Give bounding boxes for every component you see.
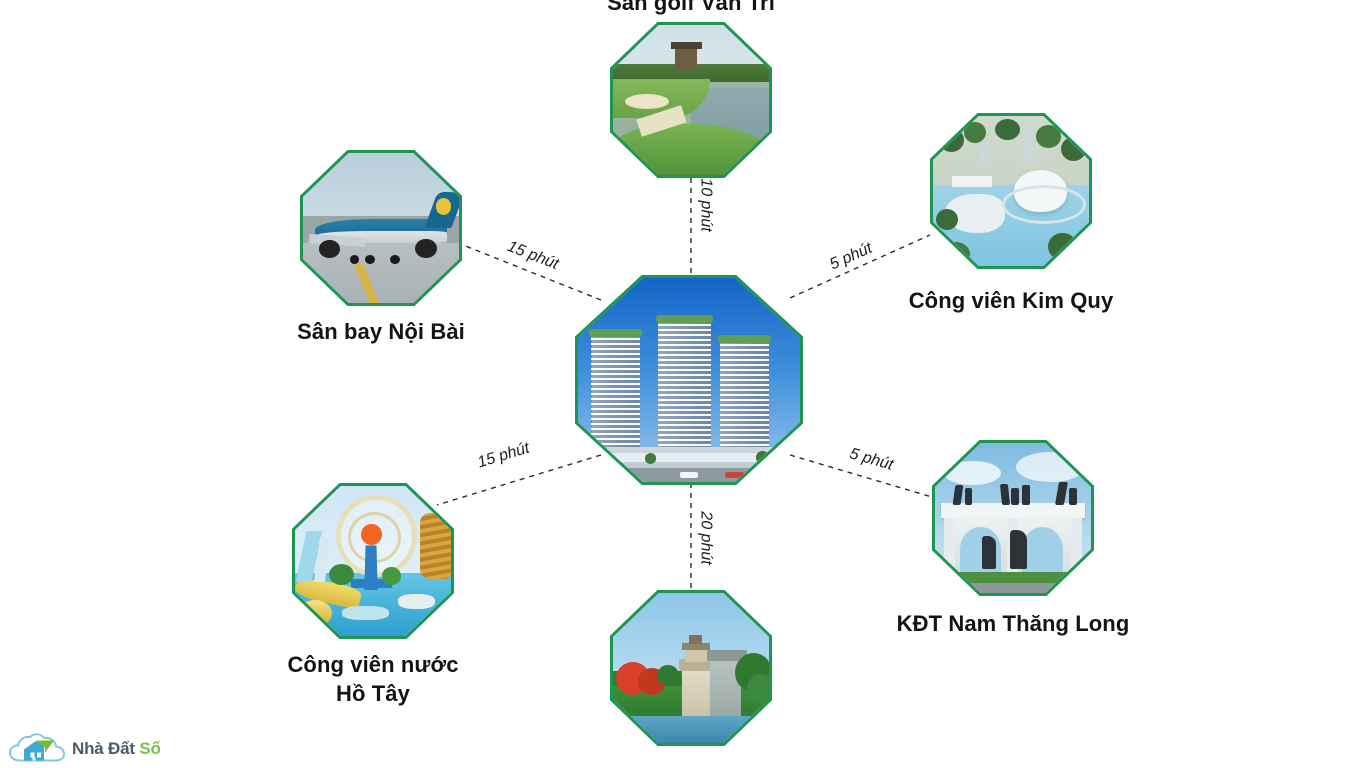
golf-octagon[interactable] — [610, 22, 772, 178]
center-project-octagon[interactable] — [575, 275, 803, 485]
time-label-hoguom: 20 phút — [697, 511, 715, 564]
brand-name: Nhà Đất Số — [72, 739, 161, 759]
namthanglong-octagon[interactable] — [932, 440, 1094, 596]
brand-name-accent: Số — [139, 739, 160, 758]
kimquy-image — [933, 116, 1089, 266]
airport-octagon[interactable] — [300, 150, 462, 306]
hoguom-image — [613, 593, 769, 743]
node-kdt-nam-thang-long[interactable] — [932, 440, 1094, 596]
cloud-house-icon — [8, 732, 66, 766]
node-san-golf-van-tri[interactable] — [610, 22, 772, 178]
label-kdt-nam-thang-long: KĐT Nam Thăng Long — [863, 609, 1163, 638]
brand-logo[interactable]: Nhà Đất Số — [8, 730, 198, 768]
hoguom-octagon[interactable] — [610, 590, 772, 746]
label-cong-vien-kim-quy: Công viên Kim Quy — [861, 286, 1161, 315]
namthanglong-image — [935, 443, 1091, 593]
center-project-node[interactable] — [575, 275, 803, 485]
node-cong-vien-kim-quy[interactable] — [930, 113, 1092, 269]
brand-name-primary: Nhà Đất — [72, 739, 139, 758]
kimquy-octagon[interactable] — [930, 113, 1092, 269]
label-san-bay-noi-bai: Sân bay Nội Bài — [231, 317, 531, 346]
node-san-bay-noi-bai[interactable] — [300, 150, 462, 306]
airport-image — [303, 153, 459, 303]
node-ho-guom[interactable] — [610, 590, 772, 746]
label-cong-vien-nuoc-ho-tay: Công viên nước Hồ Tây — [223, 650, 523, 709]
waterpark-image — [295, 486, 451, 636]
infographic-root: 10 phút 15 phút 5 phút 15 phút 20 phút 5… — [0, 0, 1366, 768]
label-san-golf-van-tri: Sân golf Vân Trì — [541, 0, 841, 17]
waterpark-octagon[interactable] — [292, 483, 454, 639]
center-project-image — [578, 278, 800, 482]
node-cong-vien-nuoc-ho-tay[interactable] — [292, 483, 454, 639]
golf-image — [613, 25, 769, 175]
time-label-golf: 10 phút — [697, 178, 715, 231]
